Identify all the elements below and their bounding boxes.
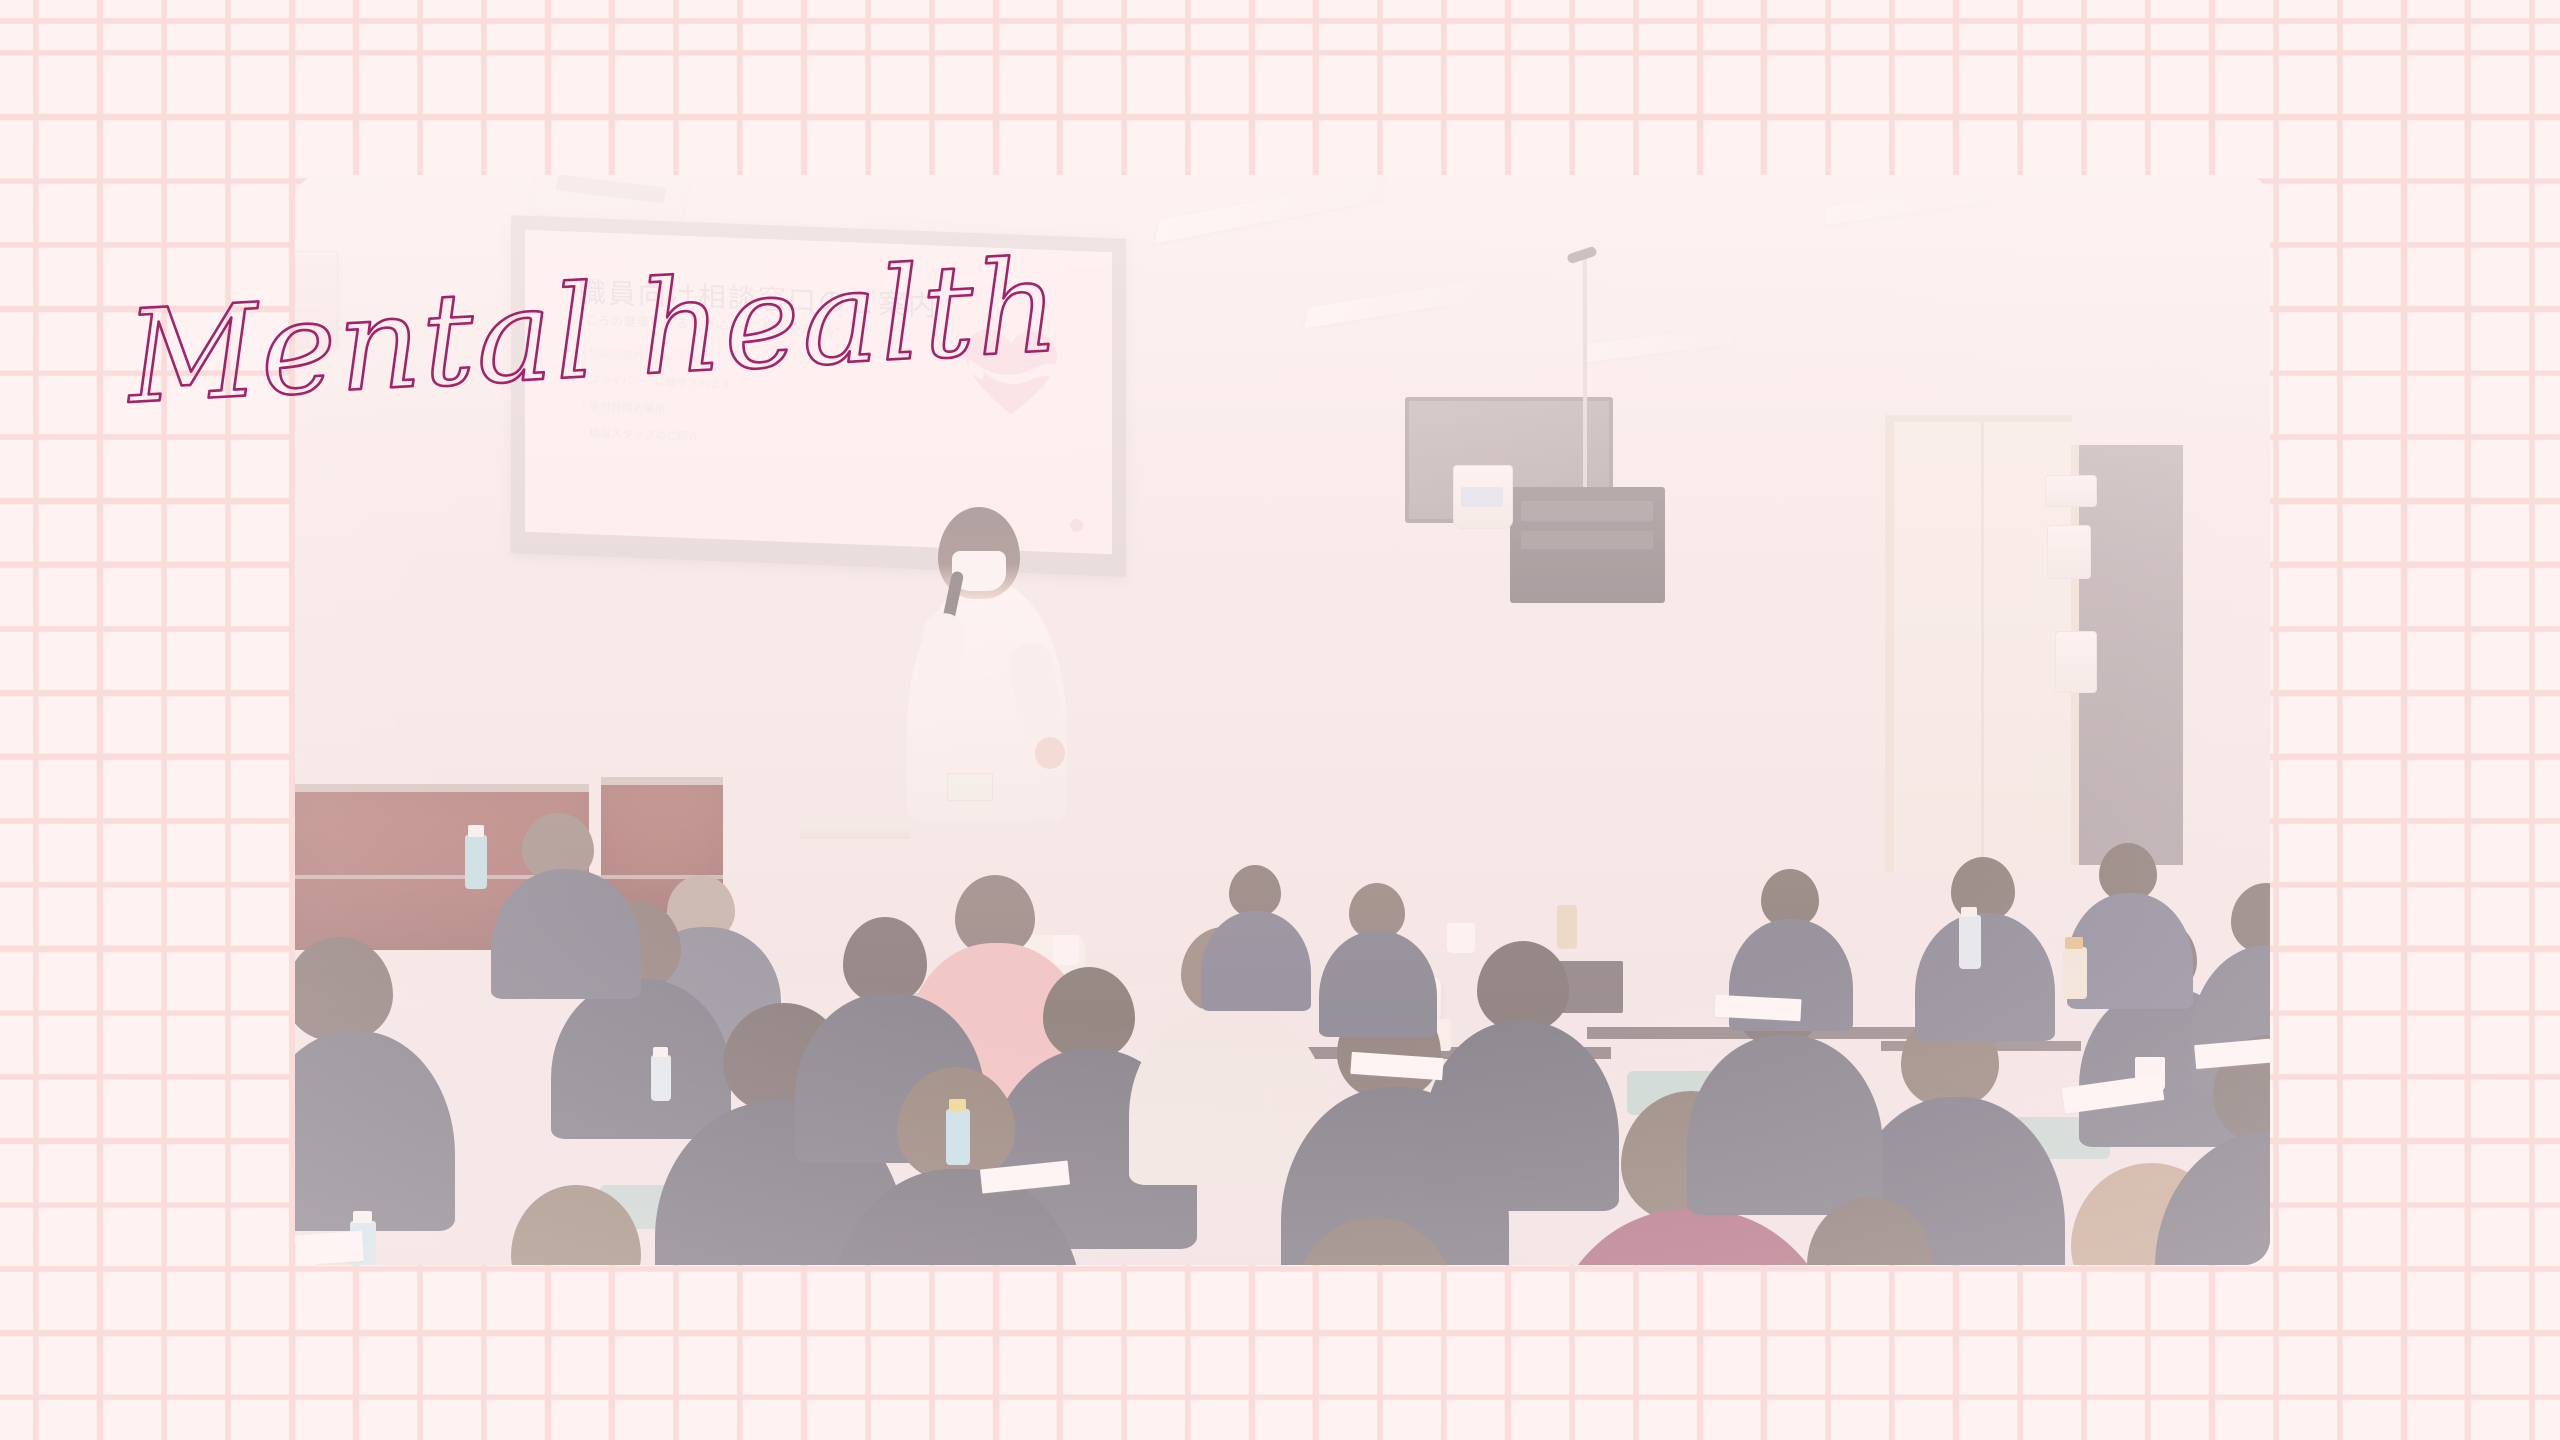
water-bottle [946,1109,970,1165]
page-root: 職員向け相談窓口のご案内 こころの健康を守るために ― ご相談ください ・相談の… [0,0,2560,1440]
av-rack-panel [1521,501,1653,521]
door-split-line [1981,422,1984,872]
bottle-cap [1961,907,1977,917]
slide-body: ・相談の流れについて ・プライバシーは厳守されます ・受付時間と場所 ・担当スタ… [578,340,901,458]
wood-paneling-edge [295,784,589,792]
av-rack-panel [1521,531,1653,549]
bottle-cap [653,1047,668,1057]
hand-sanitizer-icon [2045,475,2097,507]
audience-body [1687,1035,1883,1215]
hand-sanitizer-icon [2055,631,2097,693]
audience-head [1043,967,1135,1059]
slide-corner-dot [1070,519,1083,532]
hand-sanitizer-icon [2047,525,2091,579]
wood-paneling-edge [601,777,723,785]
wall-speaker-left-icon [295,251,338,348]
water-bottle [1557,905,1577,949]
audience-body [295,1031,455,1231]
room-door[interactable] [1885,415,2072,872]
heart-hug-icon [957,319,1065,419]
audience-head [1477,941,1569,1031]
handout-papers [1714,995,1801,1021]
paper-cup [1447,923,1475,953]
paper-cup [1053,935,1079,965]
water-bottle [2063,947,2087,999]
projection-screen: 職員向け相談窓口のご案内 こころの健康を守るために ― ご相談ください ・相談の… [511,215,1126,577]
bottle-cap [468,825,484,837]
projected-slide: 職員向け相談窓口のご案内 こころの健康を守るために ― ご相談ください ・相談の… [525,230,1112,555]
presenter-hand [1035,737,1065,769]
audience-head [1229,865,1281,917]
presenter-badge [947,773,993,801]
mental-health-seminar-photo: 職員向け相談窓口のご案内 こころの健康を守るために ― ご相談ください ・相談の… [295,175,2270,1265]
audience-body [1543,1209,1843,1265]
audience-body [2155,1131,2270,1265]
lecture-table [800,823,910,839]
bottle-cap [2065,937,2083,949]
handout-papers [295,1231,364,1265]
water-bottle [1959,915,1981,969]
water-bottle [651,1055,671,1101]
rail [295,875,723,879]
audience-head [843,917,927,1003]
water-bottle [465,835,487,889]
bottle-cap [949,1099,966,1111]
photo-scene: 職員向け相談窓口のご案内 こころの健康を守るために ― ご相談ください ・相談の… [295,175,2270,1265]
bottle-cap [353,1211,372,1223]
bucket-label [1461,487,1503,507]
